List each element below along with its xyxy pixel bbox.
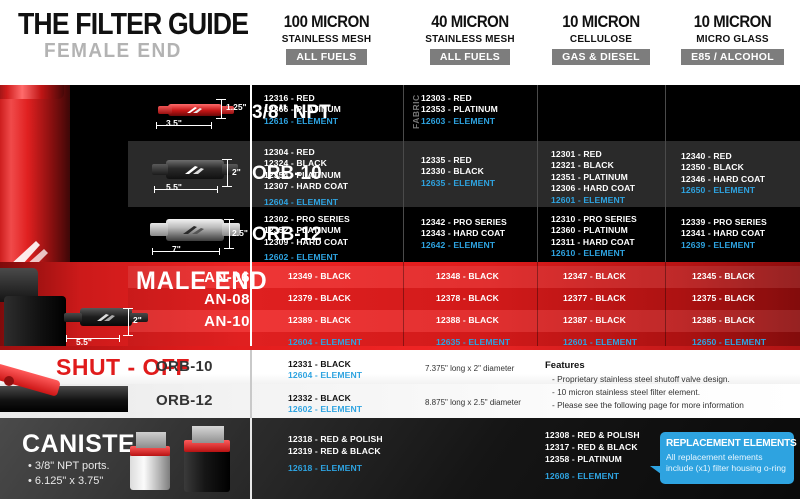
part-number-element: 12610 - ELEMENT (551, 248, 637, 259)
callout-text: All replacement elements include (x1) fi… (666, 452, 786, 474)
shut-off-size-orb12: ORB-12 (156, 392, 213, 409)
part-number: 12353 - PLATINUM (421, 104, 498, 115)
dimension-length-label: 5.5" (166, 182, 182, 192)
part-number: 12324 - BLACK (264, 158, 369, 169)
part-number: 12358 - PLATINUM (545, 454, 622, 464)
features-heading: Features (545, 360, 585, 371)
column-divider-main (250, 418, 252, 499)
part-number: 12348 - BLACK (436, 271, 499, 281)
part-number: 12349 - BLACK (288, 271, 351, 281)
female-row-npt: 3.5" 1.25" 3/8" NPT 12316 - RED 12366 - … (128, 85, 800, 141)
part-number: 12389 - BLACK (288, 315, 351, 325)
part-number: 12306 - HARD COAT (551, 183, 635, 194)
part-number-element: 12601 - ELEMENT (551, 195, 635, 206)
part-number: 12318 - RED & POLISH (288, 434, 383, 444)
shut-off-section: SHUT - OFF ORB-10 ORB-12 12331 - BLACK 1… (0, 350, 800, 418)
female-end-hero-image (0, 85, 128, 262)
male-dimension-diameter-label: 2" (133, 315, 142, 325)
column-material-label: MICRO GLASS (668, 33, 796, 45)
male-size-an08: AN-08 (166, 291, 250, 308)
female-row-orb12: 7" 2.5" ORB-12 12302 - PRO SERIES 12352 … (128, 207, 800, 262)
cell-orb12-40-micron: 12342 - PRO SERIES 12343 - HARD COAT 126… (405, 207, 539, 262)
replacement-elements-callout: REPLACEMENT ELEMENTS All replacement ele… (660, 432, 794, 484)
cell-orb12-100-micron: 12302 - PRO SERIES 12352 - PLATINUM 1230… (252, 207, 405, 262)
column-divider (665, 85, 666, 262)
shut-off-dimension-orb10: 7.375" long x 2" diameter (425, 364, 514, 373)
part-number: 12388 - BLACK (436, 315, 499, 325)
part-number-element: 12635 - ELEMENT (421, 178, 495, 189)
column-divider (537, 262, 538, 350)
callout-tail (650, 466, 661, 474)
header-bar: THE FILTER GUIDE FEMALE END 100 MICRON S… (0, 0, 800, 85)
part-number-element: 12618 - ELEMENT (288, 463, 362, 473)
feature-item: - Proprietary stainless steel shutoff va… (552, 374, 730, 384)
part-number: 12319 - RED & BLACK (288, 446, 381, 456)
product-image-orb10: 5.5" 2" (128, 141, 250, 207)
cell-npt-100-micron: 12316 - RED 12366 - PLATINUM 12616 - ELE… (252, 85, 405, 141)
part-number: 12346 - HARD COAT (681, 174, 765, 185)
cell-npt-10-micron-cellulose (539, 85, 667, 141)
feature-item: - Please see the following page for more… (552, 400, 744, 410)
part-number: 12343 - HARD COAT (421, 228, 507, 239)
canister-bullet: • 3/8" NPT ports. (28, 460, 110, 472)
part-number: 12316 - RED (264, 93, 341, 104)
column-material-label: CELLULOSE (540, 33, 662, 45)
aeromotive-logo-icon (184, 165, 206, 175)
part-number: 12310 - PRO SERIES (551, 214, 637, 225)
cell-orb10-10-micron-cellulose: 12301 - RED 12321 - BLACK 12351 - PLATIN… (539, 141, 667, 207)
product-image-npt: 3.5" 1.25" (128, 85, 250, 141)
section-subtitle-female-end: FEMALE END (44, 40, 182, 63)
part-number: 12330 - BLACK (421, 166, 495, 177)
female-row-orb10: 5.5" 2" ORB-10 12304 - RED 12324 - BLACK… (128, 141, 800, 207)
part-number: 12377 - BLACK (563, 293, 626, 303)
column-micron-label: 10 MICRON (545, 12, 658, 32)
part-number: 12331 - BLACK (288, 359, 351, 369)
column-fuel-badge: E85 / ALCOHOL (681, 49, 784, 65)
part-number: 12350 - BLACK (681, 162, 765, 173)
male-size-an10: AN-10 (166, 313, 250, 330)
part-number-element: 12639 - ELEMENT (681, 240, 767, 251)
column-divider-main (250, 350, 252, 418)
male-size-an06: AN-06 (166, 269, 250, 286)
dimension-diameter-label: 2" (232, 167, 241, 177)
part-number: 12332 - BLACK (288, 393, 351, 403)
shut-off-dimension-orb12: 8.875" long x 2.5" diameter (425, 398, 521, 407)
cell-orb10-100-micron: 12304 - RED 12324 - BLACK 12354 - PLATIN… (252, 141, 405, 207)
dimension-diameter-label: 1.25" (226, 102, 247, 112)
shut-off-size-orb10: ORB-10 (156, 358, 213, 375)
cell-npt-10-micron-micro-glass (667, 85, 800, 141)
part-number: 12321 - BLACK (551, 160, 635, 171)
part-number: 12309 - HARD COAT (264, 237, 350, 248)
callout-line-2: include (x1) filter housing o-ring (666, 463, 786, 474)
aeromotive-logo-icon (96, 313, 116, 322)
column-divider (403, 262, 404, 350)
part-number: 12304 - RED (264, 147, 369, 158)
part-number: 12307 - HARD COAT (264, 181, 369, 192)
aeromotive-logo-icon (186, 106, 204, 114)
aeromotive-logo-icon (182, 225, 206, 235)
column-divider (403, 85, 404, 262)
part-number: 12345 - BLACK (692, 271, 755, 281)
part-number: 12387 - BLACK (563, 315, 626, 325)
feature-item: - 10 micron stainless steel filter eleme… (552, 387, 700, 397)
aeromotive-logo-icon (6, 235, 62, 262)
part-number: 12352 - PLATINUM (264, 225, 350, 236)
part-number: 12308 - RED & POLISH (545, 430, 640, 440)
part-number: 12351 - PLATINUM (551, 172, 635, 183)
canister-image-polish (126, 432, 176, 490)
dimension-length-label: 7" (172, 244, 181, 254)
part-number-element: 12608 - ELEMENT (545, 471, 619, 481)
part-number: 12340 - RED (681, 151, 765, 162)
callout-title: REPLACEMENT ELEMENTS (666, 437, 797, 449)
column-divider-main (250, 85, 252, 262)
cell-orb12-10-micron-cellulose: 12310 - PRO SERIES 12360 - PLATINUM 1231… (539, 207, 667, 262)
column-fuel-badge: ALL FUELS (286, 49, 366, 65)
part-number: 12375 - BLACK (692, 293, 755, 303)
part-number-element: 12603 - ELEMENT (421, 116, 498, 127)
column-divider-main (250, 262, 252, 350)
column-micron-label: 100 MICRON (259, 12, 394, 32)
part-number-element: 12602 - ELEMENT (288, 404, 362, 414)
red-filter-cap-graphic (0, 85, 64, 99)
cell-orb12-10-micron-micro-glass: 12339 - PRO SERIES 12341 - HARD COAT 126… (667, 207, 800, 262)
dimension-diameter-label: 2.5" (232, 228, 248, 238)
part-number: 12360 - PLATINUM (551, 225, 637, 236)
column-header-40-micron: 40 MICRON STAINLESS MESH ALL FUELS (403, 12, 537, 65)
part-number: 12317 - RED & BLACK (545, 442, 638, 452)
part-number: 12311 - HARD COAT (551, 237, 637, 248)
fabric-vertical-label: FABRIC (411, 94, 421, 129)
callout-line-1: All replacement elements (666, 452, 786, 463)
part-number: 12303 - RED (421, 93, 498, 104)
part-number: 12301 - RED (551, 149, 635, 160)
page-title: THE FILTER GUIDE (18, 6, 248, 42)
part-number: 12354 - PLATINUM (264, 170, 369, 181)
part-number: 12379 - BLACK (288, 293, 351, 303)
column-header-100-micron: 100 MICRON STAINLESS MESH ALL FUELS (250, 12, 403, 65)
column-fuel-badge: ALL FUELS (430, 49, 510, 65)
cell-orb10-10-micron-micro-glass: 12340 - RED 12350 - BLACK 12346 - HARD C… (667, 141, 800, 207)
cell-npt-40-micron: FABRIC 12303 - RED 12353 - PLATINUM 1260… (405, 85, 539, 141)
part-number: 12335 - RED (421, 155, 495, 166)
part-number: 12302 - PRO SERIES (264, 214, 350, 225)
part-number: 12342 - PRO SERIES (421, 217, 507, 228)
part-number: 12347 - BLACK (563, 271, 626, 281)
part-number-element: 12650 - ELEMENT (681, 185, 765, 196)
cell-orb10-40-micron: 12335 - RED 12330 - BLACK 12635 - ELEMEN… (405, 141, 539, 207)
part-number: 12378 - BLACK (436, 293, 499, 303)
part-number: 12341 - HARD COAT (681, 228, 767, 239)
canister-image-black (180, 426, 238, 492)
dimension-length-label: 3.5" (166, 118, 182, 128)
column-micron-label: 10 MICRON (673, 12, 792, 32)
column-material-label: STAINLESS MESH (406, 33, 533, 45)
column-header-10-micron-micro-glass: 10 MICRON MICRO GLASS E85 / ALCOHOL (665, 12, 800, 65)
part-number: 12385 - BLACK (692, 315, 755, 325)
part-number: 12366 - PLATINUM (264, 104, 341, 115)
column-divider (665, 262, 666, 350)
part-number: 12339 - PRO SERIES (681, 217, 767, 228)
part-number-element: 12604 - ELEMENT (288, 370, 362, 380)
filter-guide-page: THE FILTER GUIDE FEMALE END 100 MICRON S… (0, 0, 800, 499)
column-fuel-badge: GAS & DIESEL (552, 49, 650, 65)
column-material-label: STAINLESS MESH (254, 33, 399, 45)
part-number-element: 12616 - ELEMENT (264, 116, 341, 127)
column-divider (537, 85, 538, 262)
part-number-element: 12642 - ELEMENT (421, 240, 507, 251)
canister-bullet: • 6.125" x 3.75" (28, 475, 103, 487)
female-end-section: 3.5" 1.25" 3/8" NPT 12316 - RED 12366 - … (0, 85, 800, 262)
male-end-section: MALE END 5.5" 2" AN-06 AN-08 AN-10 12349… (0, 262, 800, 350)
product-image-orb12: 7" 2.5" (128, 207, 250, 262)
column-micron-label: 40 MICRON (411, 12, 529, 32)
column-header-10-micron-cellulose: 10 MICRON CELLULOSE GAS & DIESEL (537, 12, 665, 65)
